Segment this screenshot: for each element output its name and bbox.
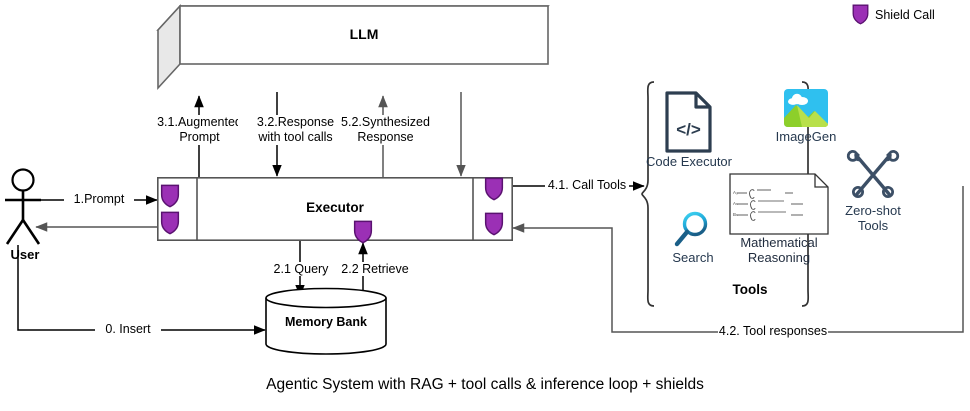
tool-zero-shot[interactable]: Zero-shotTools	[847, 148, 899, 202]
diagram-caption: Agentic System with RAG + tool calls & i…	[0, 376, 970, 394]
edge-label-4-1-call-tools: 4.1. Call Tools	[545, 178, 629, 192]
shield-tools-1[interactable]	[484, 177, 504, 201]
tool-imagegen[interactable]: ImageGen	[783, 88, 829, 128]
svg-text:</>: </>	[676, 120, 701, 139]
svg-text:A₀: A₀	[733, 190, 738, 195]
edge-label-1-prompt: 1.Prompt	[64, 192, 134, 206]
memory-bank-node[interactable]: Memory Bank	[264, 288, 388, 354]
shield-tools-2[interactable]	[484, 212, 504, 236]
shield-memory[interactable]	[353, 220, 373, 244]
edge-label-3-2: 3.2.Responsewith tool calls	[238, 115, 353, 145]
tool-code-executor[interactable]: </> Code Executor	[663, 90, 715, 154]
edge-label-2-1-query: 2.1 Query	[270, 262, 332, 276]
executor-node[interactable]: Executor	[157, 177, 513, 241]
edge-label-4-2-tool-responses: 4.2. Tool responses	[718, 324, 828, 338]
user-node[interactable]: User	[2, 168, 48, 248]
tool-math-reasoning[interactable]: A₀AₙBₙ MathematicalReasoning	[729, 173, 829, 235]
tool-label-math-reasoning: MathematicalReasoning	[720, 235, 838, 265]
svg-text:Bₙ: Bₙ	[733, 212, 738, 217]
edge-label-2-2-retrieve: 2.2 Retrieve	[335, 262, 415, 276]
edge-label-5-1: 5.2.SynthesizedResponse	[338, 115, 433, 145]
tool-label-zero-shot: Zero-shotTools	[829, 203, 917, 233]
user-label: User	[0, 248, 50, 262]
shield-input-1[interactable]	[160, 184, 180, 208]
edge-label-0-insert: 0. Insert	[95, 322, 161, 336]
executor-label: Executor	[197, 201, 473, 215]
tool-search[interactable]: Search	[672, 210, 714, 250]
memory-bank-label: Memory Bank	[264, 315, 388, 329]
svg-text:Aₙ: Aₙ	[733, 201, 738, 206]
shield-input-2[interactable]	[160, 211, 180, 235]
tool-label-code-executor: Code Executor	[630, 154, 748, 169]
tools-group-label: Tools	[700, 283, 800, 297]
tool-label-imagegen: ImageGen	[754, 129, 858, 144]
